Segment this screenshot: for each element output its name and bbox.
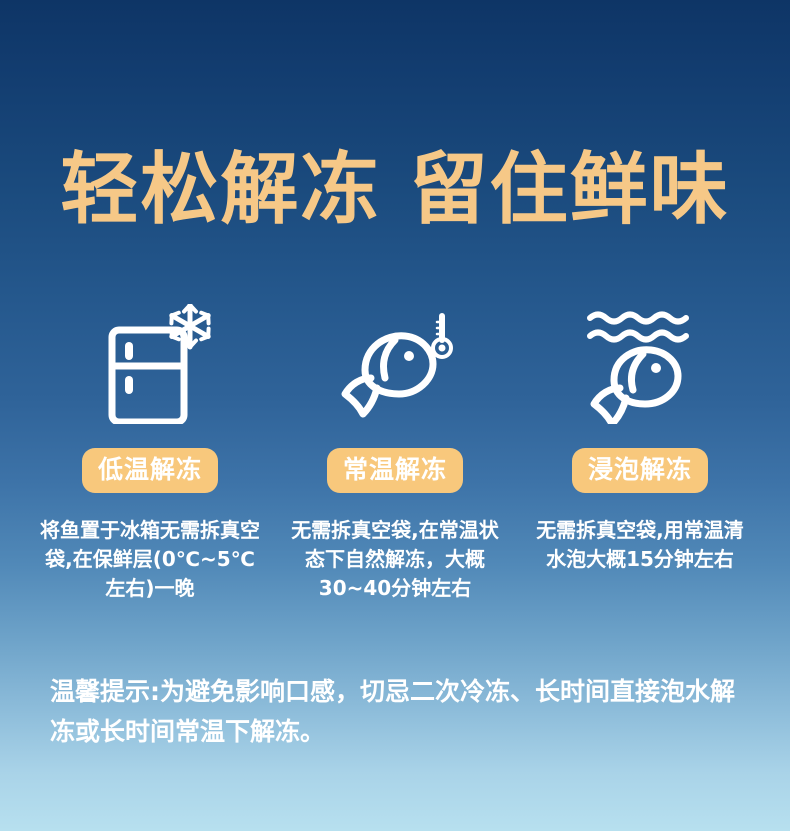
fridge-snowflake-icon	[84, 300, 216, 428]
thawing-methods-row: 低温解冻 将鱼置于冰箱无需拆真空袋,在保鲜层(0℃~5℃左右)一晚	[0, 300, 790, 603]
description-low-temperature: 将鱼置于冰箱无需拆真空袋,在保鲜层(0℃~5℃左右)一晚	[38, 516, 263, 603]
page-title-container: 轻松解冻 留住鲜味	[0, 146, 790, 234]
warm-tip-text: 温馨提示:为避免影响口感，切忌二次冷冻、长时间直接泡水解冻或长时间常温下解冻。	[50, 672, 750, 752]
badge-soaking: 浸泡解冻	[572, 448, 708, 493]
thaw-method-room-temperature: 常温解冻 无需拆真空袋,在常温状态下自然解冻，大概30~40分钟左右	[273, 300, 518, 603]
thaw-method-low-temperature: 低温解冻 将鱼置于冰箱无需拆真空袋,在保鲜层(0℃~5℃左右)一晚	[28, 300, 273, 603]
badge-low-temperature: 低温解冻	[82, 448, 218, 493]
fish-water-waves-icon	[574, 300, 706, 428]
promo-page: 轻松解冻 留住鲜味	[0, 0, 790, 831]
description-soaking: 无需拆真空袋,用常温清水泡大概15分钟左右	[528, 516, 753, 574]
page-title: 轻松解冻 留住鲜味	[60, 146, 729, 234]
thaw-method-soaking: 浸泡解冻 无需拆真空袋,用常温清水泡大概15分钟左右	[518, 300, 763, 574]
fish-thermometer-icon	[329, 300, 461, 428]
description-room-temperature: 无需拆真空袋,在常温状态下自然解冻，大概30~40分钟左右	[283, 516, 508, 603]
badge-room-temperature: 常温解冻	[327, 448, 463, 493]
